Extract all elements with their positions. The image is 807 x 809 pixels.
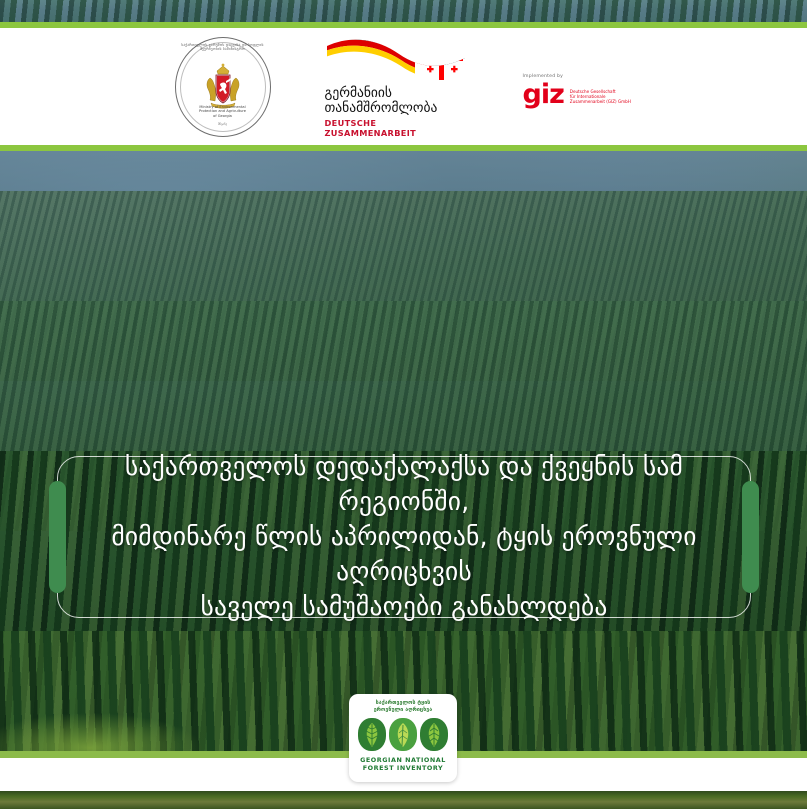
hero-forest-photo: საქართველოს დედაქალაქსა და ქვეყნის სამ რ… [0, 151, 807, 751]
german-cooperation-subtitle: DEUTSCHE ZUSAMMENARBEIT [323, 118, 471, 138]
giz-description: Deutsche Gesellschaft für Internationale… [570, 84, 631, 105]
german-cooperation-logo: გერმანიის თანამშრომლობა DEUTSCHE ZUSAMME… [323, 36, 471, 138]
top-photo-strip [0, 0, 807, 22]
leaf-icon [389, 718, 417, 751]
emblem-english-caption: Ministry of Environmental Protection and… [176, 105, 270, 119]
german-georgian-flag-wave-icon [323, 36, 471, 84]
partner-logo-header: საქართველოს გარემოს დაცვისა და სოფლის მე… [0, 28, 807, 145]
accent-bar-right [742, 481, 759, 593]
grass-clearing [0, 656, 300, 751]
gnfi-english-title: GEORGIAN NATIONAL FOREST INVENTORY [360, 756, 446, 773]
emblem-sub-caption: მწვანე [176, 122, 270, 126]
broadleaf-icon [358, 718, 386, 751]
gnfi-logo: საქართველოს ტყის ეროვნული აღრიცხვა [349, 694, 457, 782]
gnfi-georgian-title: საქართველოს ტყის ეროვნული აღრიცხვა [355, 700, 451, 714]
treeline-texture [0, 0, 807, 22]
conifer-needle-icon [420, 718, 448, 751]
emblem-ring-text: საქართველოს გარემოს დაცვისა და სოფლის მე… [176, 43, 270, 51]
poster-page: საქართველოს გარემოს დაცვისა და სოფლის მე… [0, 0, 807, 809]
german-cooperation-title: გერმანიის თანამშრომლობა [323, 86, 471, 116]
accent-bar-left [49, 481, 66, 593]
giz-wordmark: giz [523, 84, 564, 106]
hero-title-card: საქართველოს დედაქალაქსა და ქვეყნის სამ რ… [57, 456, 751, 618]
giz-logo: Implemented by giz Deutsche Gesellschaft… [523, 68, 633, 106]
giz-implemented-by-label: Implemented by [523, 74, 633, 79]
ministry-emblem-logo: საქართველოს გარემოს დაცვისა და სოფლის მე… [175, 37, 271, 137]
hero-title: საქართველოს დედაქალაქსა და ქვეყნის სამ რ… [58, 450, 750, 625]
bottom-strip-texture [0, 791, 807, 809]
gnfi-leaf-icons [358, 718, 448, 751]
bottom-photo-strip [0, 791, 807, 809]
